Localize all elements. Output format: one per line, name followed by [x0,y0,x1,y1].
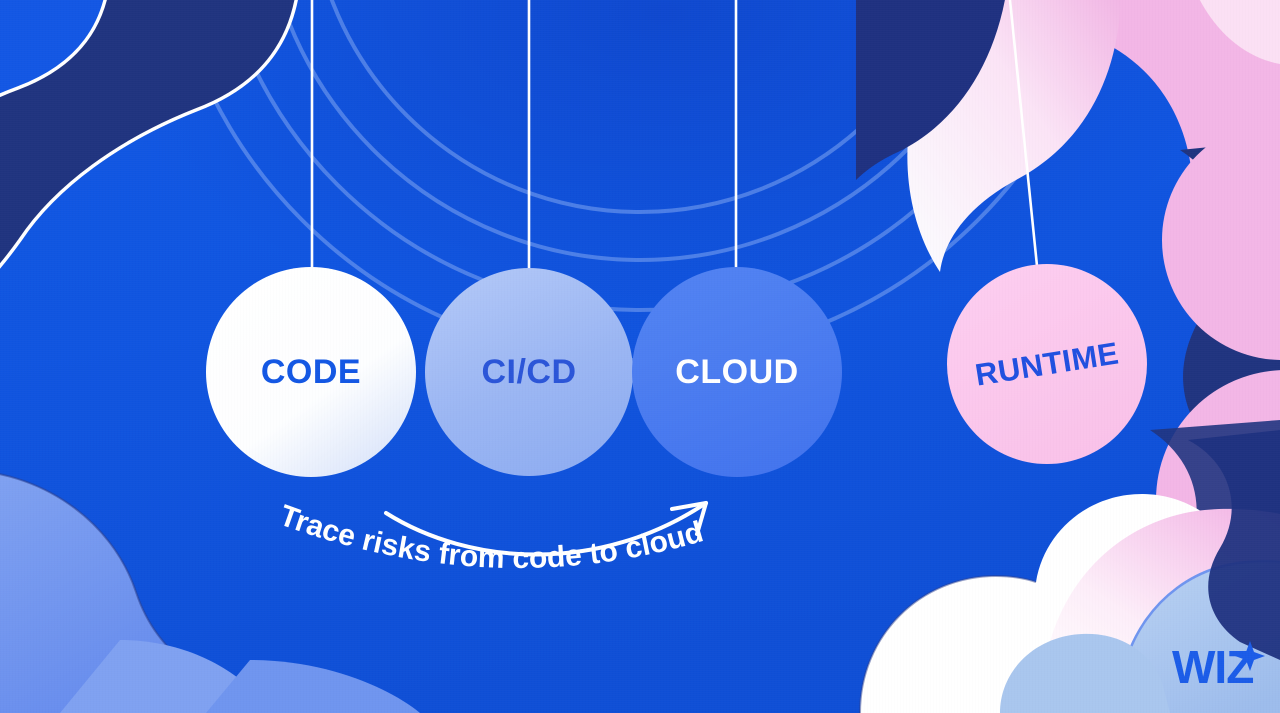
node-circles: CI/CD CLOUD CODE RUNTIME [206,264,1147,477]
node-cloud[interactable]: CLOUD [632,267,842,477]
node-cicd[interactable]: CI/CD [425,268,633,476]
node-code-label: CODE [261,353,361,391]
node-cicd-label: CI/CD [481,353,576,391]
graphic-canvas: CI/CD CLOUD CODE RUNTIME [0,0,1280,713]
node-cloud-label: CLOUD [675,353,798,391]
node-code[interactable]: CODE [206,267,416,477]
wiz-logo-text: WIZ [1172,641,1253,693]
node-runtime[interactable]: RUNTIME [947,264,1147,464]
illustration-scene: CI/CD CLOUD CODE RUNTIME [0,0,1280,713]
wiz-logo[interactable]: WIZ [1172,641,1265,693]
